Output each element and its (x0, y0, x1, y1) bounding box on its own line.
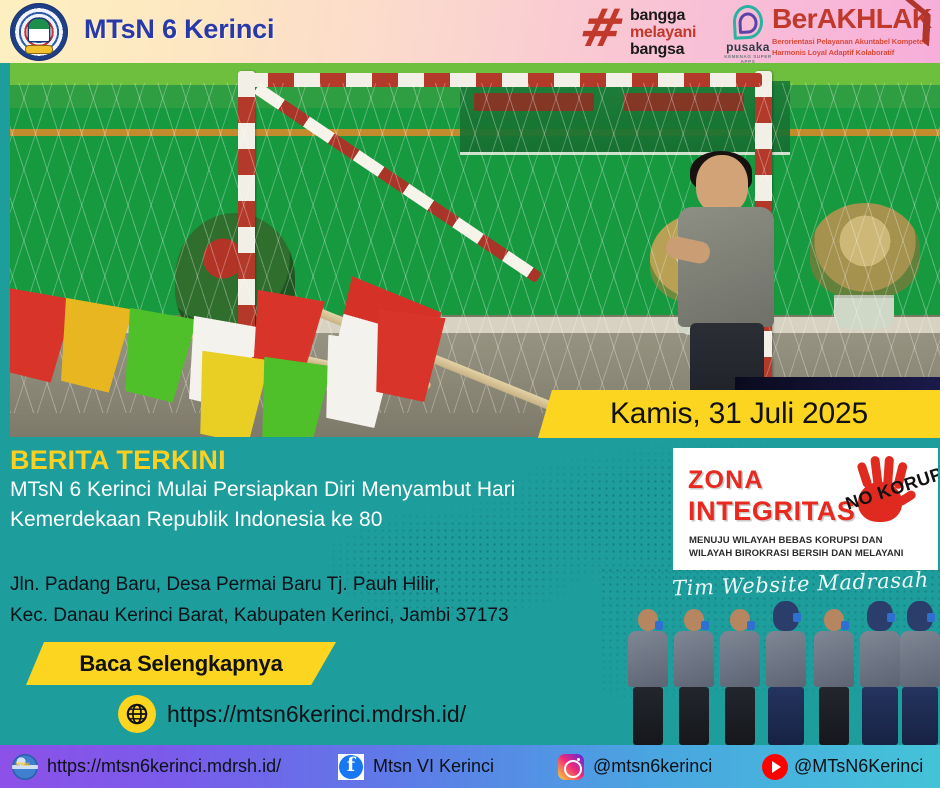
website-link[interactable]: https://mtsn6kerinci.mdrsh.id/ (118, 695, 466, 733)
address-line-2: Kec. Danau Kerinci Barat, Kabupaten Keri… (10, 600, 650, 631)
news-headline: MTsN 6 Kerinci Mulai Persiapkan Diri Men… (10, 475, 620, 535)
bunting-flags (10, 251, 430, 426)
pusaka-logo: pusaka KEMENAG SUPER APPS (718, 5, 778, 61)
person-figure (674, 609, 714, 745)
news-poster: MTsN 6 Kerinci # bangga melayani bangsa … (0, 0, 940, 788)
footer-youtube-label: @MTsN6Kerinci (794, 756, 923, 777)
pusaka-droplet-icon (732, 4, 764, 40)
date-banner: Kamis, 31 Juli 2025 (538, 390, 940, 438)
footer-facebook-label: Mtsn VI Kerinci (373, 756, 494, 777)
poster-header: MTsN 6 Kerinci # bangga melayani bangsa … (0, 0, 940, 63)
bangga-line2: melayani (630, 24, 696, 41)
zona-sub-line1: MENUJU WILAYAH BEBAS KORUPSI DAN (689, 535, 883, 546)
zona-integritas-badge: ZONA INTEGRITAS MENUJU WILAYAH BEBAS KOR… (673, 448, 938, 570)
hash-icon: # (575, 8, 631, 54)
person-figure (720, 609, 760, 745)
student-head (696, 155, 748, 213)
facebook-icon: f (338, 754, 364, 780)
student-figure (670, 155, 800, 415)
staff-group-photo (622, 600, 940, 745)
youtube-icon (762, 754, 788, 780)
footer-website-link[interactable]: https://mtsn6kerinci.mdrsh.id/ (12, 754, 281, 780)
bangga-line1: bangga (630, 7, 696, 24)
person-figure (766, 601, 806, 745)
berakhlak-sub-line2: Harmonis Loyal Adaptif Kolaboratif (772, 48, 894, 57)
person-figure (900, 601, 940, 745)
hero-photo (10, 63, 940, 437)
footer-youtube-link[interactable]: @MTsN6Kerinci (762, 754, 923, 780)
bangga-line3: bangsa (630, 41, 696, 58)
date-text: Kamis, 31 Juli 2025 (610, 397, 868, 431)
footer-instagram-link[interactable]: @mtsn6kerinci (558, 754, 712, 780)
zona-title-line2: INTEGRITAS (688, 496, 856, 527)
red-hand-stamp-icon: NO KORUPSI (850, 454, 926, 528)
website-url: https://mtsn6kerinci.mdrsh.id/ (167, 701, 466, 728)
student-shirt (678, 207, 774, 327)
read-more-label: Baca Selengkapnya (79, 651, 282, 677)
bangga-melayani-bangsa-logo: # bangga melayani bangsa (580, 4, 710, 59)
berakhlak-sub-line1: Berorientasi Pelayanan Akuntabel Kompete… (772, 37, 928, 46)
instagram-icon (558, 754, 584, 780)
news-kicker: BERITA TERKINI (10, 445, 226, 476)
berakhlak-logo: BerAKHLAK Berorientasi Pelayanan Akuntab… (772, 5, 932, 61)
zona-sub-line2: WILAYAH BIROKRASI BERSIH DAN MELAYANI (689, 548, 904, 559)
person-figure (860, 601, 900, 745)
globe-icon (118, 695, 156, 733)
school-name: MTsN 6 Kerinci (84, 14, 274, 45)
address-line-1: Jln. Padang Baru, Desa Permai Baru Tj. P… (10, 569, 650, 600)
pusaka-tagline: KEMENAG SUPER APPS (718, 54, 778, 64)
person-figure (628, 609, 668, 745)
globe-www-icon (12, 754, 38, 780)
bunting-flag (190, 351, 269, 437)
school-crest-icon (10, 3, 68, 61)
footer-facebook-link[interactable]: f Mtsn VI Kerinci (338, 754, 494, 780)
pusaka-name: pusaka (718, 40, 778, 54)
zona-subtitle: MENUJU WILAYAH BEBAS KORUPSI DAN WILAYAH… (689, 534, 904, 560)
read-more-button[interactable]: Baca Selengkapnya (26, 642, 336, 685)
zona-title-line1: ZONA (688, 466, 764, 495)
bunting-flag (252, 357, 331, 437)
social-footer: https://mtsn6kerinci.mdrsh.id/ f Mtsn VI… (0, 745, 940, 788)
school-address: Jln. Padang Baru, Desa Permai Baru Tj. P… (10, 569, 650, 631)
footer-instagram-label: @mtsn6kerinci (593, 756, 712, 777)
person-figure (814, 609, 854, 745)
footer-website-label: https://mtsn6kerinci.mdrsh.id/ (47, 756, 281, 777)
